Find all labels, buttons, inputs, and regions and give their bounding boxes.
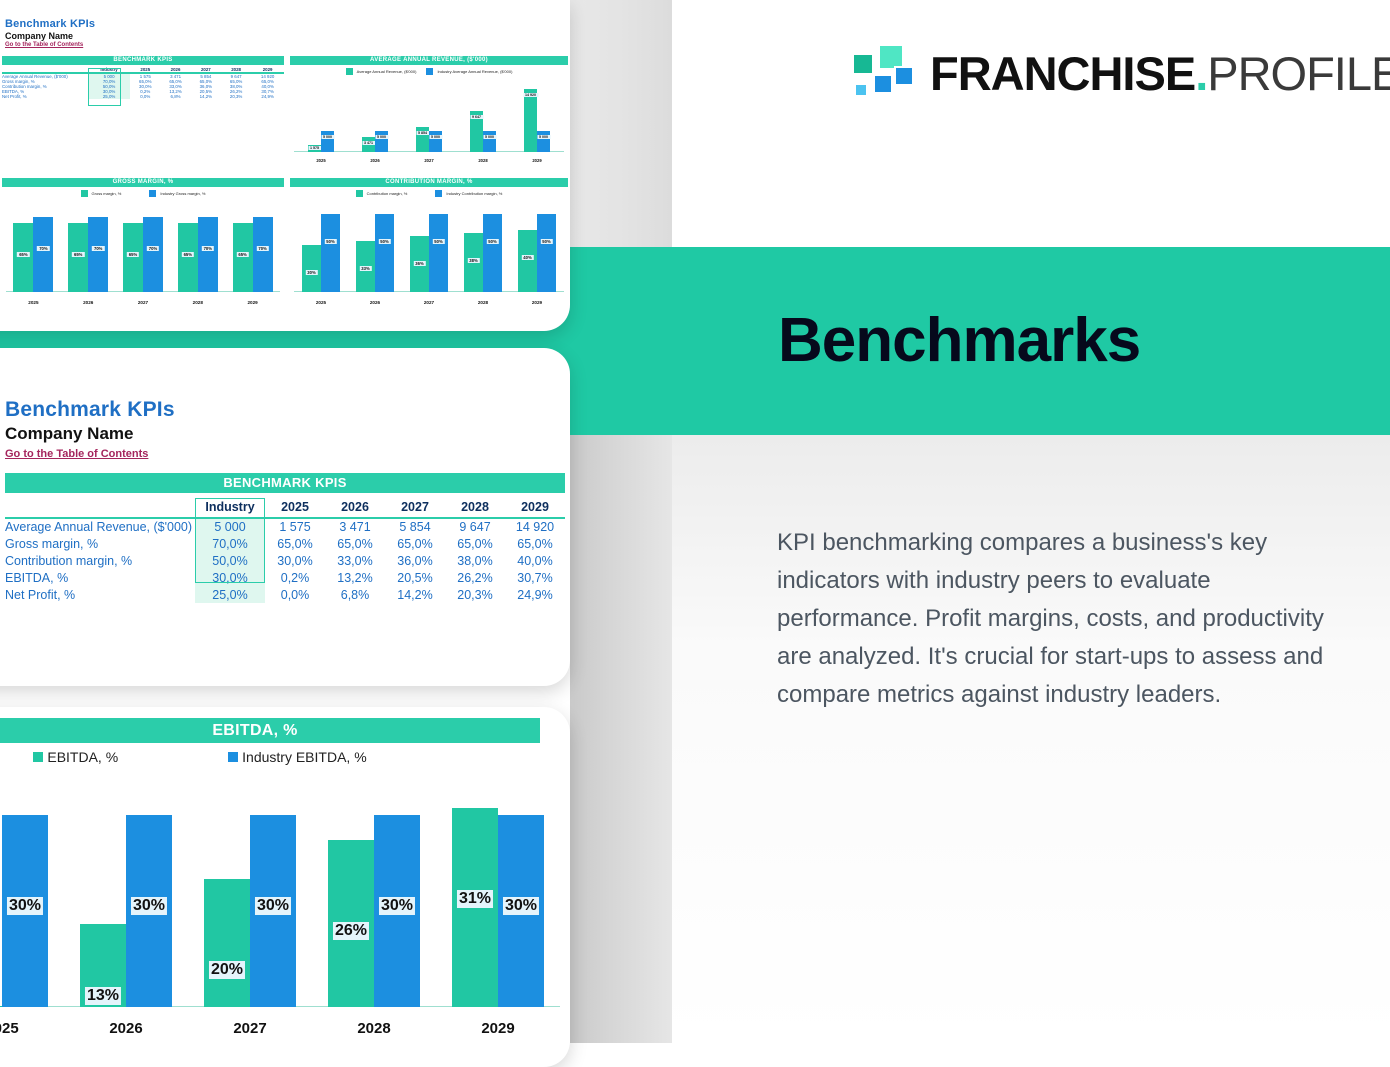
cell-industry: 5 000	[195, 518, 265, 535]
chart-data-label: 5 000	[375, 135, 388, 139]
cell-value: 1 575	[265, 518, 325, 535]
chart-x-label: 2027	[188, 1020, 312, 1037]
mini-chart-title-revenue: AVERAGE ANNUAL REVENUE, ($'000)	[290, 56, 568, 65]
square-blue-light	[854, 83, 868, 97]
chart-x-label: 2029	[436, 1020, 560, 1037]
chart-bar: 33%	[356, 241, 375, 292]
chart-data-label: 5 000	[537, 135, 550, 139]
cell-value: 65,0%	[445, 535, 505, 552]
legend-item-ebitda: EBITDA, %	[33, 749, 118, 765]
mini-legend-gross: Gross margin, % Industry Gross margin, %	[2, 190, 284, 197]
chart-x-label: 2025	[294, 158, 348, 163]
logo-mark-icon	[852, 44, 914, 102]
chart-x-label: 2027	[116, 300, 171, 305]
cell-value: 40,0%	[505, 552, 565, 569]
chart-bar: 14 920	[524, 89, 537, 152]
cell-value: 30,7%	[505, 569, 565, 586]
chart-data-label: 50%	[324, 239, 336, 244]
chart-x-label: 2026	[64, 1020, 188, 1037]
chart-data-label: 70%	[256, 246, 268, 251]
chart-data-label: 70%	[92, 246, 104, 251]
page-title: Benchmark KPIs	[5, 398, 175, 422]
chart-group: 20%30%2027	[188, 777, 312, 1039]
chart-data-label: 65%	[127, 252, 139, 257]
col-head-industry: Industry	[195, 496, 265, 518]
chart-bar: 65%	[233, 223, 253, 292]
chart-groups: 1 5755 00020253 4715 00020265 8545 00020…	[294, 78, 564, 164]
logo-word-profiles: PROFILES	[1207, 47, 1390, 100]
chart-data-label: 9 647	[470, 115, 483, 119]
cell-value: 13,2%	[325, 569, 385, 586]
mini-legend-revenue: Average Annual Revenue, ($'000) Industry…	[290, 68, 568, 75]
chart-data-label: 30%	[131, 897, 167, 915]
chart-bar: 26%	[328, 840, 374, 1007]
chart-bar: 65%	[178, 223, 198, 292]
cell-value: 65,0%	[325, 535, 385, 552]
chart-data-label: 14 920	[523, 93, 538, 97]
chart-data-label: 5 000	[429, 135, 442, 139]
cell-value: 36,0%	[385, 552, 445, 569]
square-teal-dark	[852, 53, 874, 75]
chart-x-label: 2025	[294, 300, 348, 305]
chart-x-label: 2026	[348, 158, 402, 163]
chart-bar: 30%	[126, 815, 172, 1007]
chart-data-label: 70%	[37, 246, 49, 251]
chart-x-label: 2027	[402, 158, 456, 163]
chart-data-label: 70%	[202, 246, 214, 251]
cell-value: 33,0%	[325, 552, 385, 569]
chart-x-label: 2028	[456, 158, 510, 163]
chart-x-label: 2029	[510, 158, 564, 163]
chart-group: 65%70%2028	[170, 202, 225, 306]
legend-item: Industry Gross margin, %	[149, 190, 205, 197]
chart-group: 36%50%2027	[402, 202, 456, 306]
chart-bar: 50%	[483, 214, 502, 292]
chart-bar: 38%	[464, 233, 483, 292]
sheet-subtitle-small: Company Name	[5, 31, 73, 41]
chart-x-label: 2026	[61, 300, 116, 305]
cell-value: 14 920	[505, 518, 565, 535]
chart-x-label: 2029	[225, 300, 280, 305]
chart-bar: 65%	[68, 223, 88, 292]
chart-group: 33%50%2026	[348, 202, 402, 306]
chart-bar: 5 000	[375, 131, 388, 152]
chart-group: 65%70%2026	[61, 202, 116, 306]
legend-swatch-blue	[149, 190, 156, 197]
cell-value: 65,0%	[505, 535, 565, 552]
table-of-contents-link[interactable]: Go to the Table of Contents	[5, 448, 148, 460]
kpi-table: Industry 2025 2026 2027 2028 2029 Averag…	[5, 496, 565, 603]
cell-industry: 70,0%	[195, 535, 265, 552]
legend-swatch-blue	[426, 68, 433, 75]
background-gray-band-lower	[570, 435, 672, 1043]
legend-swatch-green	[356, 190, 363, 197]
row-label: Net Profit, %	[5, 586, 195, 603]
slide-title: Benchmarks	[778, 305, 1140, 376]
dashboard-card-ebitda[interactable]: EBITDA, % EBITDA, % Industry EBITDA, % 0…	[0, 707, 570, 1067]
cell-value: 6,8%	[325, 586, 385, 603]
cell-value: 38,0%	[445, 552, 505, 569]
cell-industry: 25,0%	[195, 586, 265, 603]
mini-legend-contribution: Contribution margin, % Industry Contribu…	[290, 190, 568, 197]
chart-bar: 5 000	[483, 131, 496, 152]
chart-bar: 30%	[498, 815, 544, 1007]
col-head-2025: 2025	[265, 496, 325, 518]
mini-kpi-table-body: Average Annual Revenue, ($'000) 5 000 1 …	[2, 73, 284, 99]
chart-group: 1 5755 0002025	[294, 78, 348, 164]
chart-data-label: 30%	[503, 897, 539, 915]
logo-wordmark: FRANCHISE.PROFILES	[930, 50, 1390, 97]
chart-data-label: 36%	[413, 261, 425, 266]
cell-value: 26,2%	[445, 569, 505, 586]
chart-data-label: 50%	[540, 239, 552, 244]
chart-bar: 50%	[537, 214, 556, 292]
chart-data-label: 5 000	[483, 135, 496, 139]
cell-value: 0,2%	[265, 569, 325, 586]
chart-group: 40%50%2029	[510, 202, 564, 306]
cell-industry: 50,0%	[195, 552, 265, 569]
cell-value: 65,0%	[385, 535, 445, 552]
square-blue-right	[894, 66, 914, 86]
chart-bar: 70%	[253, 217, 273, 292]
chart-bar: 50%	[429, 214, 448, 292]
cell-value: 9 647	[445, 518, 505, 535]
chart-group: 38%50%2028	[456, 202, 510, 306]
chart-bar: 70%	[33, 217, 53, 292]
logo-dot: .	[1195, 47, 1207, 100]
row-label: Average Annual Revenue, ($'000)	[5, 518, 195, 535]
chart-group: 26%30%2028	[312, 777, 436, 1039]
legend-swatch-green	[33, 752, 43, 762]
chart-x-label: 2026	[348, 300, 402, 305]
chart-data-label: 50%	[486, 239, 498, 244]
chart-data-label: 26%	[333, 922, 369, 940]
ebitda-legend: EBITDA, % Industry EBITDA, %	[0, 749, 410, 765]
chart-bar: 13%	[80, 924, 126, 1007]
chart-bar: 65%	[123, 223, 143, 292]
chart-bar: 1 575	[308, 145, 321, 152]
cell-value: 30,0%	[265, 552, 325, 569]
mini-chart-gross-margin: 65%70%202565%70%202665%70%202765%70%2028…	[6, 202, 280, 306]
chart-data-label: 65%	[17, 252, 29, 257]
mini-table-header: BENCHMARK KPIS	[2, 56, 284, 65]
chart-data-label: 30%	[379, 897, 415, 915]
legend-swatch-green	[81, 190, 88, 197]
legend-swatch-blue	[228, 752, 238, 762]
chart-data-label: 13%	[85, 987, 121, 1005]
col-head-2027: 2027	[385, 496, 445, 518]
dashboard-card-overview[interactable]: Benchmark KPIs Company Name Go to the Ta…	[0, 0, 570, 331]
cell-value: 20,5%	[385, 569, 445, 586]
chart-groups: 65%70%202565%70%202665%70%202765%70%2028…	[6, 202, 280, 306]
row-label: EBITDA, %	[5, 569, 195, 586]
chart-bar: 70%	[198, 217, 218, 292]
legend-item: Industry Contribution margin, %	[435, 190, 502, 197]
chart-bar: 70%	[88, 217, 108, 292]
chart-bar: 31%	[452, 808, 498, 1007]
col-head-2029: 2029	[505, 496, 565, 518]
chart-bar: 65%	[13, 223, 33, 292]
chart-group: 31%30%2029	[436, 777, 560, 1039]
mini-chart-title-gross: GROSS MARGIN, %	[2, 178, 284, 187]
legend-swatch-blue	[435, 190, 442, 197]
chart-bar: 5 000	[321, 131, 334, 152]
mini-kpi-table: Industry 2025 2026 2027 2028 2029 Averag…	[2, 67, 284, 99]
chart-data-label: 5 854	[416, 131, 429, 135]
chart-x-label: 2027	[402, 300, 456, 305]
table-row: Gross margin, % 70,0% 65,0% 65,0% 65,0% …	[5, 535, 565, 552]
chart-bar: 30%	[2, 815, 48, 1007]
chart-group: 14 9205 0002029	[510, 78, 564, 164]
legend-item: Average Annual Revenue, ($'000)	[346, 68, 417, 75]
chart-groups: 30%50%202533%50%202636%50%202738%50%2028…	[294, 202, 564, 306]
chart-x-label: 2025	[6, 300, 61, 305]
chart-data-label: 65%	[236, 252, 248, 257]
chart-data-label: 65%	[182, 252, 194, 257]
chart-bar: 5 000	[429, 131, 442, 152]
cell-industry: 30,0%	[195, 569, 265, 586]
chart-data-label: 33%	[359, 266, 371, 271]
chart-group: 30%50%2025	[294, 202, 348, 306]
chart-x-label: 2028	[456, 300, 510, 305]
logo-word-franchise: FRANCHISE	[930, 47, 1195, 100]
chart-group: 0%30%2025	[0, 777, 64, 1039]
legend-item: Gross margin, %	[81, 190, 122, 197]
chart-data-label: 30%	[255, 897, 291, 915]
chart-bar: 9 647	[470, 111, 483, 152]
chart-data-label: 20%	[209, 961, 245, 979]
chart-bar: 50%	[321, 214, 340, 292]
legend-swatch-green	[346, 68, 353, 75]
table-row: Net Profit, % 25,0% 0,0% 6,8% 14,2% 20,3…	[5, 586, 565, 603]
row-label: Gross margin, %	[5, 535, 195, 552]
chart-data-label: 30%	[305, 270, 317, 275]
dashboard-card-kpi-table[interactable]: Benchmark KPIs Company Name Go to the Ta…	[0, 348, 570, 686]
chart-group: 5 8545 0002027	[402, 78, 456, 164]
chart-bar: 30%	[250, 815, 296, 1007]
cell-value: 65,0%	[265, 535, 325, 552]
col-head-2026: 2026	[325, 496, 385, 518]
chart-data-label: 1 575	[308, 146, 321, 150]
chart-bar: 36%	[410, 236, 429, 292]
chart-group: 3 4715 0002026	[348, 78, 402, 164]
kpi-table-body: Average Annual Revenue, ($'000) 5 000 1 …	[5, 518, 565, 603]
mini-chart-title-contribution: CONTRIBUTION MARGIN, %	[290, 178, 568, 187]
ebitda-chart-title: EBITDA, %	[0, 718, 540, 743]
mini-chart-contribution-margin: 30%50%202533%50%202636%50%202738%50%2028…	[294, 202, 564, 306]
chart-data-label: 3 471	[362, 141, 375, 145]
chart-group: 65%70%2029	[225, 202, 280, 306]
chart-bar: 70%	[143, 217, 163, 292]
table-row: Contribution margin, % 50,0% 30,0% 33,0%…	[5, 552, 565, 569]
chart-bar: 40%	[518, 230, 537, 292]
cell-value: 14,2%	[385, 586, 445, 603]
chart-bar: 30%	[302, 245, 321, 292]
chart-data-label: 50%	[378, 239, 390, 244]
chart-bar: 30%	[374, 815, 420, 1007]
chart-groups: 0%30%202513%30%202620%30%202726%30%20283…	[0, 777, 560, 1039]
cell-value: 5 854	[385, 518, 445, 535]
kpi-table-header: BENCHMARK KPIS	[5, 473, 565, 493]
cell-value: 0,0%	[265, 586, 325, 603]
background-right-top	[672, 0, 1390, 247]
chart-x-label: 2029	[510, 300, 564, 305]
chart-group: 9 6475 0002028	[456, 78, 510, 164]
row-label: Contribution margin, %	[5, 552, 195, 569]
chart-data-label: 40%	[521, 255, 533, 260]
chart-data-label: 30%	[7, 897, 43, 915]
chart-data-label: 5 000	[321, 135, 334, 139]
sheet-title-small: Benchmark KPIs	[5, 18, 95, 30]
table-row: Net Profit, % 25,0% 0,0% 6,8% 14,2% 20,3…	[2, 94, 284, 99]
chart-data-label: 50%	[432, 239, 444, 244]
legend-item-industry-ebitda: Industry EBITDA, %	[228, 749, 366, 765]
chart-bar: 5 854	[416, 127, 429, 152]
chart-x-label: 2025	[0, 1020, 64, 1037]
company-name: Company Name	[5, 424, 133, 444]
chart-bar: 20%	[204, 879, 250, 1007]
chart-data-label: 38%	[467, 258, 479, 263]
slide-body-text: KPI benchmarking compares a business's k…	[777, 524, 1357, 714]
mini-chart-revenue: 1 5755 00020253 4715 00020265 8545 00020…	[294, 78, 564, 164]
cell-value: 24,9%	[505, 586, 565, 603]
chart-bar: 5 000	[537, 131, 550, 152]
chart-bar: 50%	[375, 214, 394, 292]
legend-item: Industry Average Annual Revenue, ($'000)	[426, 68, 512, 75]
chart-group: 65%70%2027	[116, 202, 171, 306]
chart-x-label: 2028	[312, 1020, 436, 1037]
col-head-2028: 2028	[445, 496, 505, 518]
square-blue-mid	[873, 74, 893, 94]
chart-data-label: 31%	[457, 890, 493, 908]
cell-value: 20,3%	[445, 586, 505, 603]
ebitda-chart: 0%30%202513%30%202620%30%202726%30%20283…	[0, 777, 560, 1039]
cell-value: 3 471	[325, 518, 385, 535]
chart-data-label: 65%	[72, 252, 84, 257]
chart-group: 13%30%2026	[64, 777, 188, 1039]
chart-bar: 3 471	[362, 137, 375, 152]
table-row: Average Annual Revenue, ($'000) 5 000 1 …	[5, 518, 565, 535]
chart-data-label: 70%	[147, 246, 159, 251]
legend-item: Contribution margin, %	[356, 190, 408, 197]
brand-logo: FRANCHISE.PROFILES	[852, 44, 1390, 102]
chart-group: 65%70%2025	[6, 202, 61, 306]
table-of-contents-link-small[interactable]: Go to the Table of Contents	[5, 42, 83, 48]
table-row: EBITDA, % 30,0% 0,2% 13,2% 20,5% 26,2% 3…	[5, 569, 565, 586]
chart-x-label: 2028	[170, 300, 225, 305]
